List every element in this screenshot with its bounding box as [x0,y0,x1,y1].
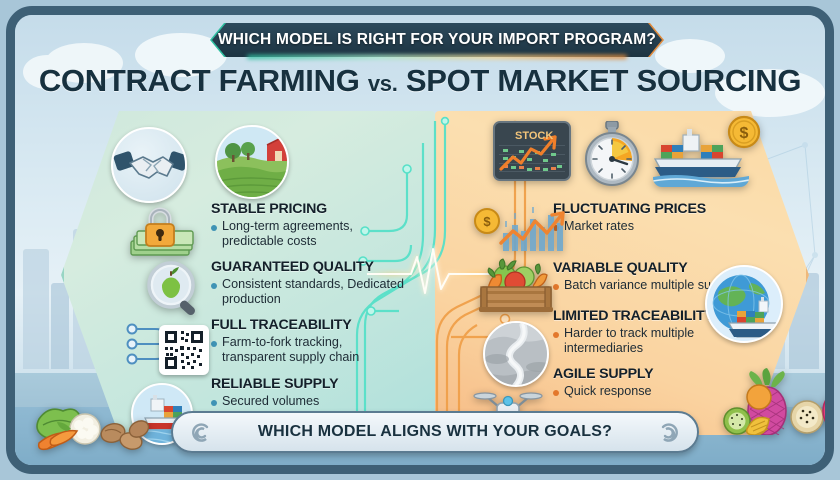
swirl-icon [657,421,683,447]
list-item: FLUCTUATING PRICES Market rates [553,201,761,234]
item-heading: FULL TRACEABILITY [211,317,407,334]
bottom-cta-label: WHICH MODEL ALIGNS WITH YOUR GOALS? [258,423,612,441]
produce-crate-icon [475,257,557,318]
outer-frame: STOCK [6,6,834,474]
title-vs: vs. [368,71,398,96]
contract-farming-list: STABLE PRICING Long-term agreements, pre… [211,201,407,419]
item-heading: RELIABLE SUPPLY [211,376,407,393]
item-text: Farm-to-fork tracking, transparent suppl… [222,335,407,364]
stock-board-icon: STOCK [493,121,571,181]
item-text: Long-term agreements, predictable costs [222,219,407,248]
city-building [51,283,69,369]
svg-text:$: $ [483,214,491,229]
title-right: SPOT MARKET SOURCING [406,63,801,98]
dollar-coin-icon: $ [727,115,761,154]
globe-shipping-icon [705,265,783,343]
item-heading: GUARANTEED QUALITY [211,259,407,276]
item-heading: STABLE PRICING [211,201,407,218]
qr-code-icon [159,325,209,375]
stock-board-label: STOCK [515,130,553,142]
bullet-dot [211,225,217,231]
svg-text:$: $ [740,125,749,142]
bullet-dot [211,341,217,347]
item-heading: FLUCTUATING PRICES [553,201,761,218]
winding-road-icon [483,321,549,387]
page-title: CONTRACT FARMING vs. SPOT MARKET SOURCIN… [15,63,825,99]
swirl-icon [187,421,213,447]
bullet-dot [553,332,559,338]
infographic-canvas: STOCK [0,0,840,480]
rising-chart-icon: $ [473,199,581,260]
bottom-cta-banner[interactable]: WHICH MODEL ALIGNS WITH YOUR GOALS? [171,411,699,453]
vegetables-nuts-icon [25,397,151,464]
top-ribbon-label: WHICH MODEL IS RIGHT FOR YOUR IMPORT PRO… [211,23,663,57]
bullet-dot [211,283,217,289]
farm-field-icon [215,125,289,199]
top-ribbon-banner: WHICH MODEL IS RIGHT FOR YOUR IMPORT PRO… [211,23,663,57]
bullet-dot [211,400,217,406]
stopwatch-icon [581,121,643,192]
item-text: Secured volumes [222,394,319,409]
tropical-fruits-icon [715,367,834,440]
item-text: Quick response [564,384,652,399]
list-item: GUARANTEED QUALITY Consistent standards,… [211,259,407,306]
list-item: FULL TRACEABILITY Farm-to-fork tracking,… [211,317,407,364]
list-item: STABLE PRICING Long-term agreements, pre… [211,201,407,248]
title-left: CONTRACT FARMING [39,63,360,98]
handshake-icon [111,127,187,203]
city-building [23,249,49,369]
item-text: Consistent standards, Dedicated producti… [222,277,407,306]
list-item: RELIABLE SUPPLY Secured volumes [211,376,407,409]
apple-magnifier-icon [141,259,203,324]
